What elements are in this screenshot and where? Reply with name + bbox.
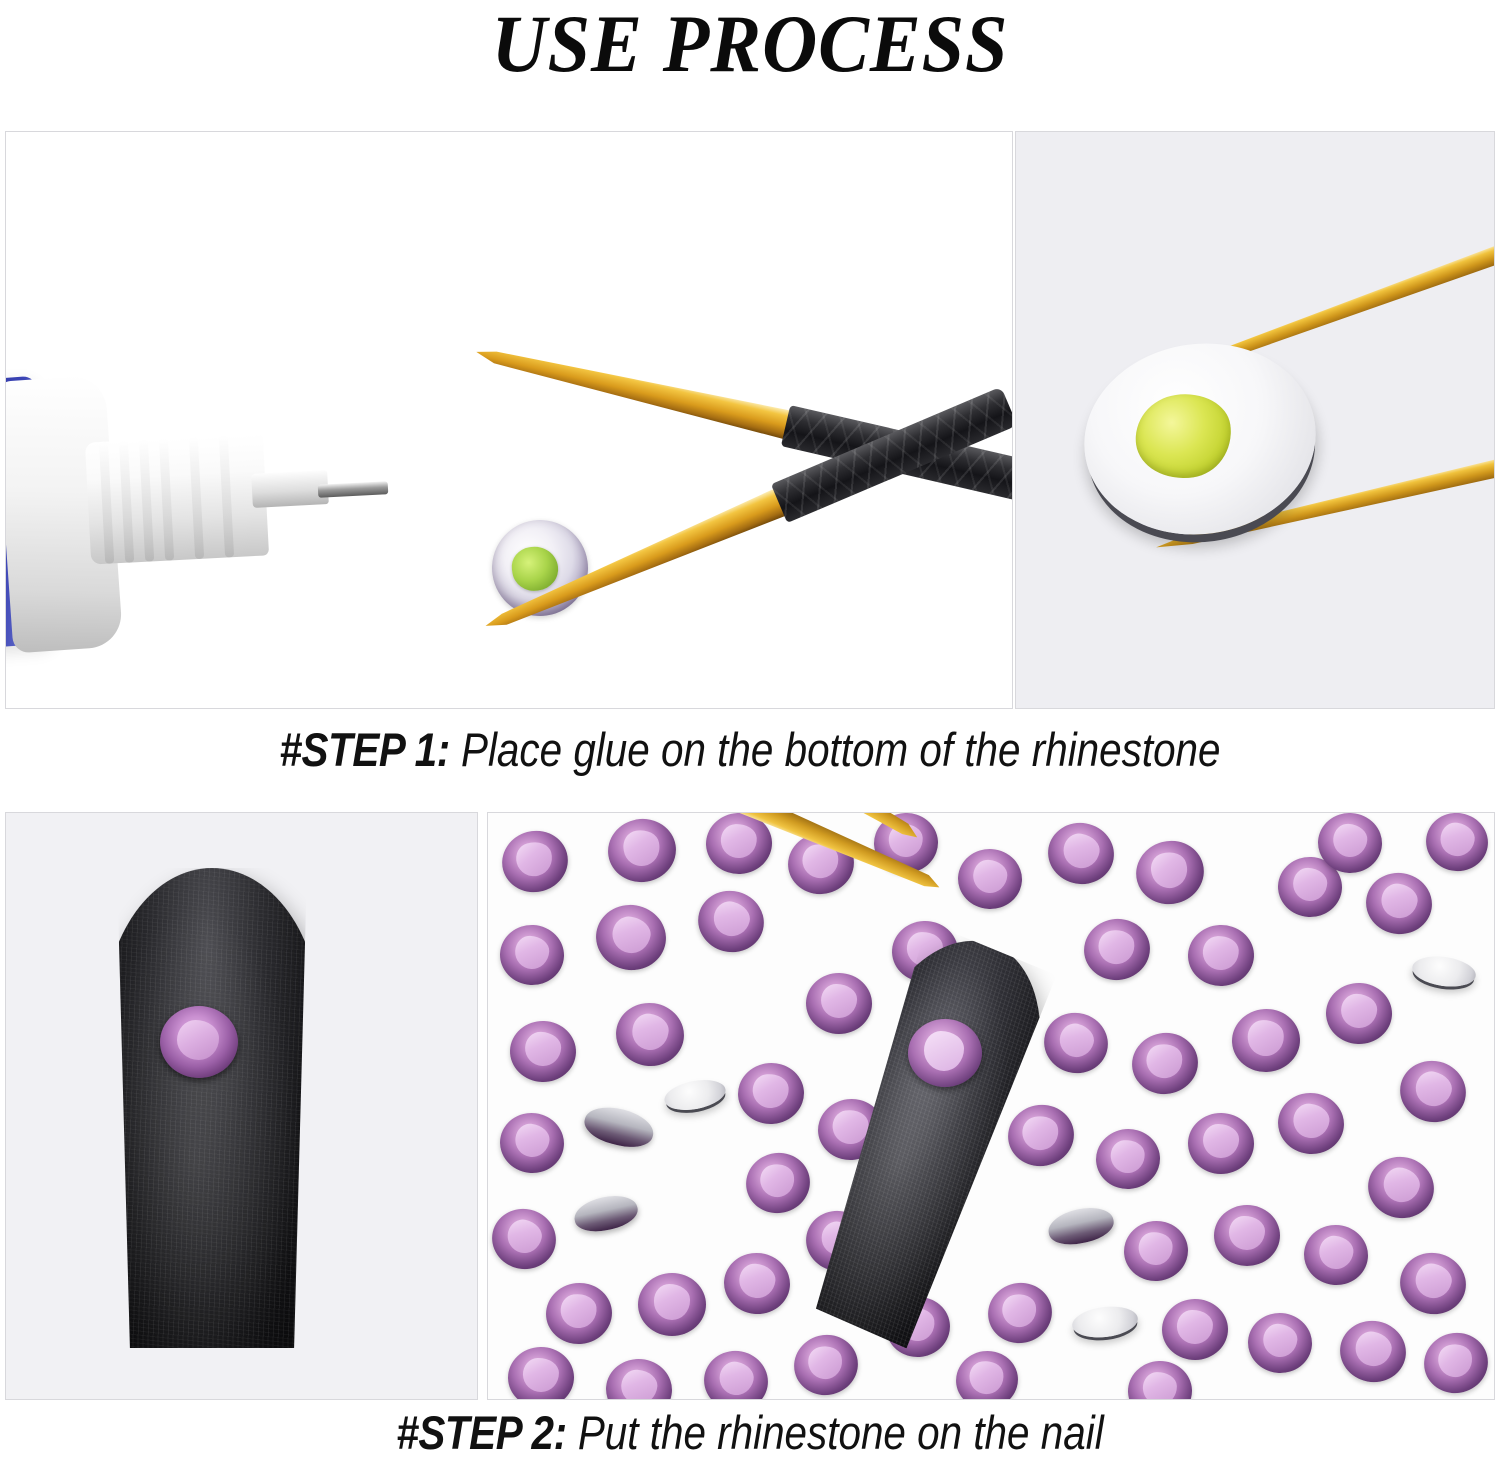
- rhinestone: [691, 883, 771, 959]
- rhinestone: [735, 1060, 806, 1127]
- tweezer-tip-gold: [473, 338, 801, 441]
- rhinestone: [1127, 1360, 1193, 1400]
- glue-applicator-needle: [318, 481, 389, 498]
- rhinestone: [1275, 1089, 1348, 1158]
- rhinestone: [543, 1280, 615, 1348]
- rhinestone: [1246, 1310, 1315, 1375]
- rhinestone: [805, 972, 872, 1034]
- rhinestone: [1362, 1150, 1440, 1224]
- rhinestone: [1003, 1099, 1079, 1171]
- rhinestone: [982, 1277, 1058, 1350]
- step-1-text: Place glue on the bottom of the rhinesto…: [450, 723, 1221, 776]
- rhinestone: [603, 814, 680, 887]
- rhinestone-being-placed: [908, 1019, 982, 1087]
- rhinestone: [1362, 868, 1437, 939]
- step-1-label: #STEP 1:: [279, 723, 449, 776]
- panel-glue-application: [5, 131, 1013, 709]
- rhinestone: [1301, 1222, 1371, 1288]
- panel-finished-nail: [5, 812, 478, 1400]
- glue-tube: [5, 364, 276, 664]
- rhinestone: [1080, 914, 1155, 985]
- step-2-caption: #STEP 2: Put the rhinestone on the nail: [105, 1405, 1395, 1460]
- panel-rhinestone-placement: [487, 812, 1495, 1400]
- rhinestone: [638, 1273, 706, 1336]
- rhinestone: [1129, 833, 1211, 911]
- rhinestone: [591, 900, 670, 975]
- rhinestone: [1394, 1054, 1473, 1129]
- rhinestone: [507, 1346, 574, 1400]
- rhinestone: [956, 847, 1024, 911]
- tweezer-arm-lower: [480, 394, 1007, 640]
- rhinestone-on-side: [1045, 1203, 1117, 1250]
- rhinestone: [1230, 1007, 1302, 1075]
- rhinestone: [1121, 1218, 1191, 1284]
- rhinestone-on-side: [571, 1191, 640, 1237]
- rhinestone: [1421, 812, 1492, 876]
- rhinestone: [1161, 1298, 1228, 1360]
- rhinestone: [1043, 818, 1119, 890]
- rhinestone: [1187, 1112, 1254, 1174]
- step-2-text: Put the rhinestone on the nail: [567, 1406, 1104, 1459]
- rhinestone: [1214, 1205, 1280, 1266]
- rhinestone-foil-back: [662, 1075, 728, 1114]
- rhinestone: [1094, 1126, 1163, 1191]
- rhinestone: [1127, 1028, 1203, 1100]
- rhinestone: [487, 1203, 562, 1276]
- step-1-caption: #STEP 1: Place glue on the bottom of the…: [105, 722, 1395, 777]
- rhinestone: [1037, 1006, 1114, 1081]
- rhinestone: [498, 923, 565, 986]
- rhinestone: [612, 999, 688, 1071]
- step-1-panel-row: [5, 131, 1495, 709]
- panel-glue-closeup: [1015, 131, 1495, 709]
- rhinestone: [788, 1328, 865, 1400]
- rhinestone: [721, 1250, 793, 1318]
- rhinestone-on-side: [581, 1101, 658, 1153]
- rhinestone: [1394, 1247, 1471, 1320]
- rhinestone: [952, 1347, 1021, 1400]
- rhinestone-foil-back: [1070, 1303, 1139, 1341]
- rhinestone: [1418, 1326, 1495, 1400]
- rhinestone: [509, 1020, 577, 1083]
- rhinestone: [1335, 1315, 1411, 1387]
- rhinestone: [603, 1356, 674, 1400]
- rhinestone-foil-back: [1410, 953, 1477, 991]
- step-2-panel-row: [5, 812, 1495, 1400]
- page-title: USE PROCESS: [53, 0, 1448, 93]
- use-process-graphic: USE PROCESS: [0, 0, 1500, 1466]
- rhinestone: [495, 823, 575, 899]
- step-2-label: #STEP 2:: [396, 1406, 566, 1459]
- applied-rhinestone: [160, 1006, 238, 1078]
- glue-tube-neck: [85, 433, 269, 564]
- rhinestone: [699, 1345, 773, 1400]
- rhinestone: [1325, 982, 1393, 1045]
- black-press-on-nail: [104, 868, 320, 1348]
- rhinestone: [1186, 923, 1255, 987]
- rhinestone: [740, 1147, 816, 1220]
- rhinestone: [497, 1109, 568, 1176]
